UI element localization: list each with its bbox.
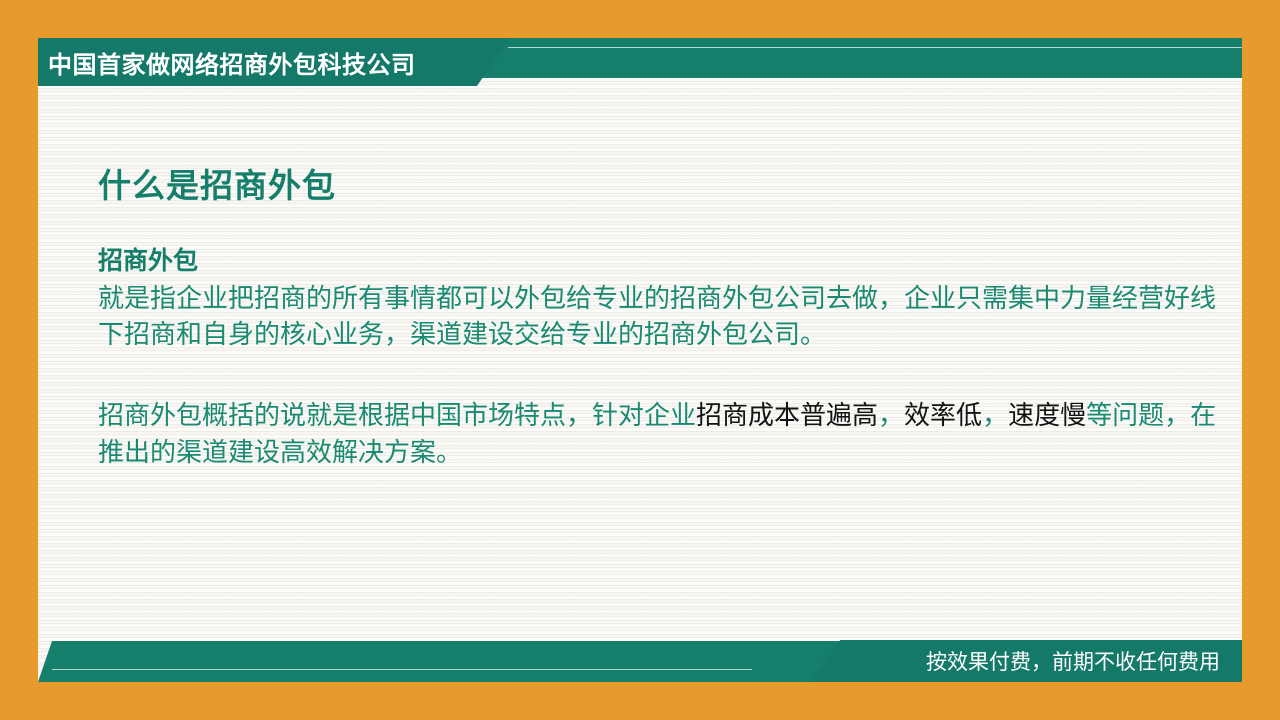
summary-text-part1: 招商外包概括的说就是根据中国市场特点，针对企业 (98, 400, 696, 430)
summary-paragraph: 招商外包概括的说就是根据中国市场特点，针对企业招商成本普遍高，效率低，速度慢等问… (98, 397, 1228, 471)
summary-separator-2: ， (982, 400, 1008, 430)
emphasis-high-cost: 招商成本普遍高 (696, 400, 878, 430)
emphasis-slow-speed: 速度慢 (1008, 400, 1086, 430)
page-title: 什么是招商外包 (98, 168, 1228, 204)
slide-root: 中国首家做网络招商外包科技公司 什么是招商外包 招商外包 就是指企业把招商的所有… (0, 0, 1280, 720)
footer-tab-label: 按效果付费，前期不收任何费用 (926, 646, 1220, 676)
footer-tagline-tab: 按效果付费，前期不收任何费用 (810, 640, 1242, 682)
definition-paragraph: 就是指企业把招商的所有事情都可以外包给专业的招商外包公司去做，企业只需集中力量经… (98, 280, 1228, 354)
content-area: 什么是招商外包 招商外包 就是指企业把招商的所有事情都可以外包给专业的招商外包公… (98, 168, 1228, 471)
header-tab-label: 中国首家做网络招商外包科技公司 (48, 45, 416, 80)
summary-separator-1: ， (878, 400, 904, 430)
emphasis-low-efficiency: 效率低 (904, 400, 982, 430)
lead-term-heading: 招商外包 (98, 246, 1228, 277)
header-title-tab: 中国首家做网络招商外包科技公司 (38, 38, 510, 86)
